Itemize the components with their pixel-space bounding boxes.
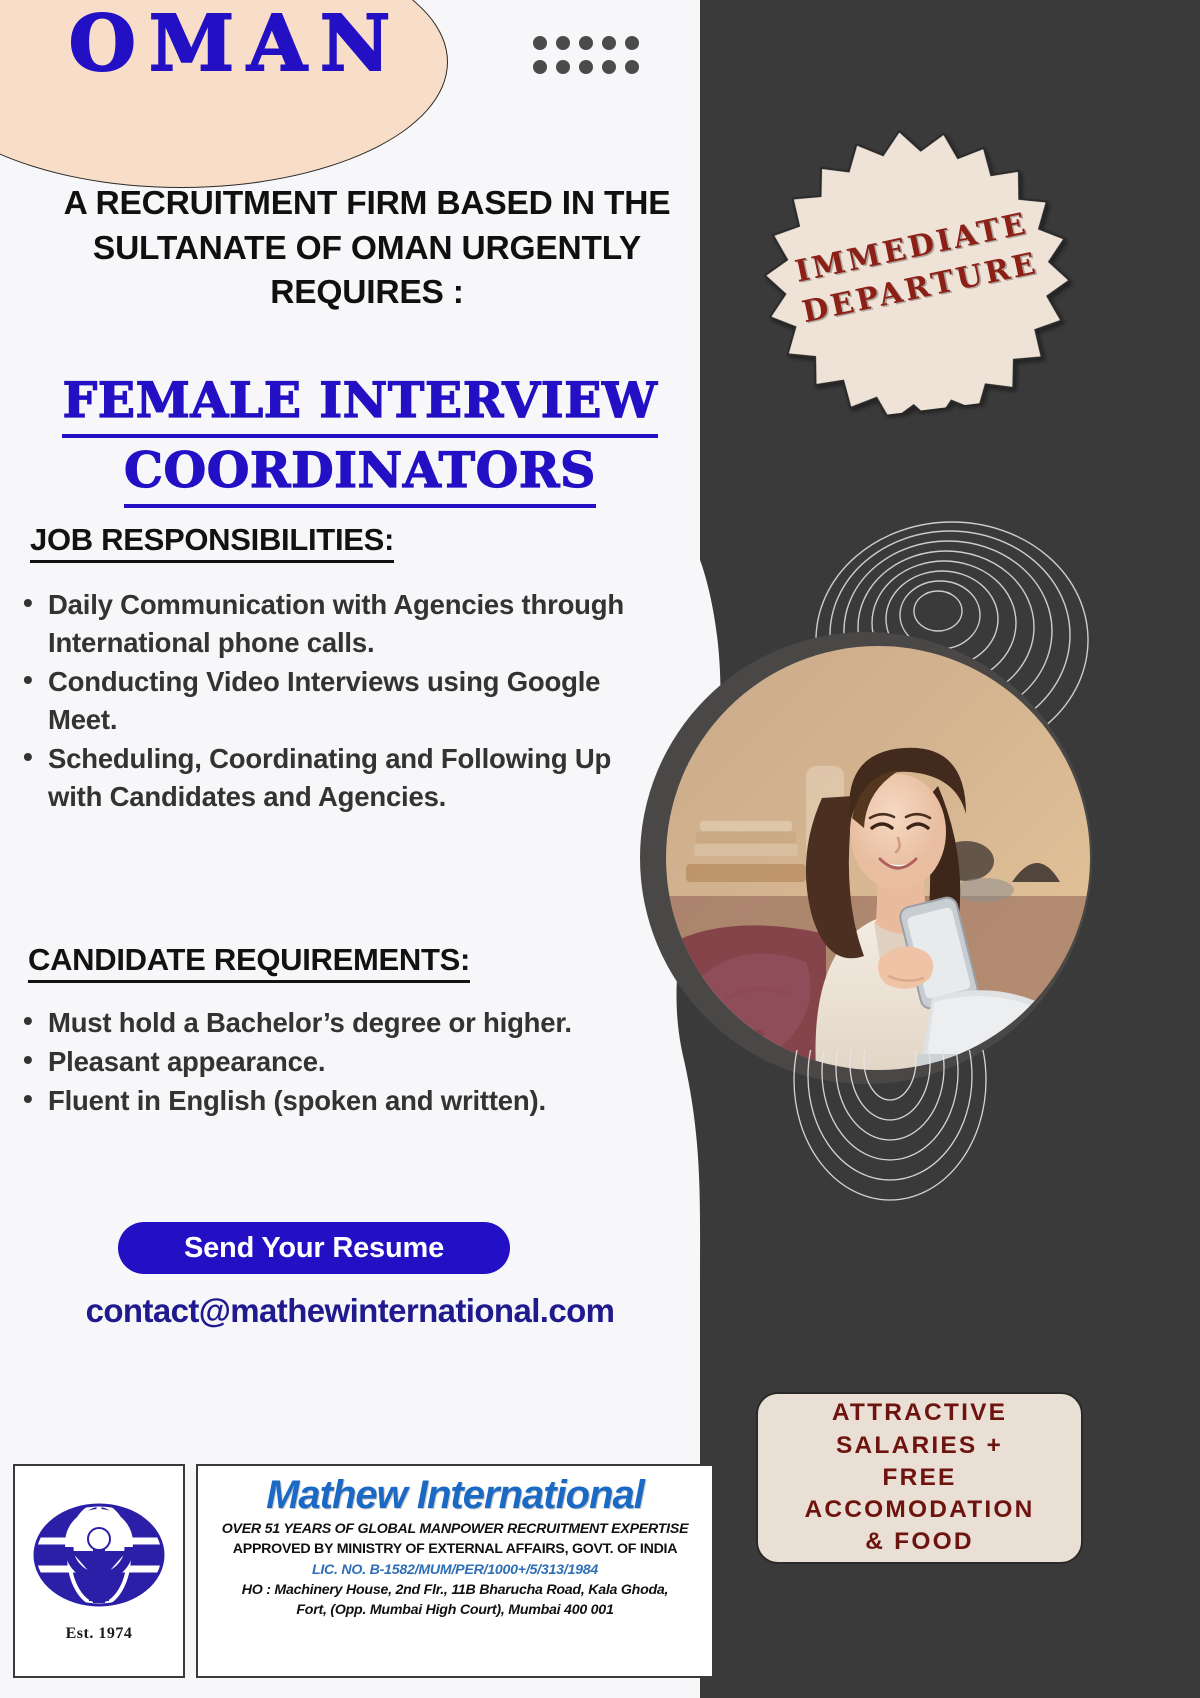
responsibilities-list: Daily Communication with Agencies throug…	[18, 586, 658, 817]
salary-line-4: ACCOMODATION	[804, 1494, 1034, 1526]
address-line-1: HO : Machinery House, 2nd Flr., 11B Bhar…	[206, 1580, 704, 1600]
job-title-line-1: FEMALE INTERVIEW	[62, 368, 657, 438]
salary-line-3: FREE	[882, 1462, 956, 1494]
country-name: OMAN	[16, 6, 456, 83]
job-title-line-2: COORDINATORS	[124, 438, 596, 508]
salary-line-1: ATTRACTIVE	[832, 1397, 1007, 1429]
photo-outer-ring	[640, 632, 1092, 1084]
address-line-2: Fort, (Opp. Mumbai High Court), Mumbai 4…	[206, 1600, 704, 1620]
company-info-box: Mathew International OVER 51 YEARS OF GL…	[196, 1464, 714, 1678]
company-tagline: OVER 51 YEARS OF GLOBAL MANPOWER RECRUIT…	[206, 1519, 704, 1539]
list-item: Daily Communication with Agencies throug…	[18, 586, 658, 662]
dot-grid-decoration	[533, 36, 648, 84]
list-item: Conducting Video Interviews using Google…	[18, 663, 658, 739]
job-title: FEMALE INTERVIEW COORDINATORS	[10, 368, 710, 508]
list-item: Fluent in English (spoken and written).	[18, 1082, 638, 1120]
requirements-list: Must hold a Bachelor’s degree or higher.…	[18, 1004, 638, 1121]
requirements-heading: CANDIDATE REQUIREMENTS:	[28, 942, 470, 983]
license-number: LIC. NO. B-1582/MUM/PER/1000+/5/313/1984	[206, 1560, 704, 1580]
page-title: A RECRUITMENT FIRM BASED IN THE SULTANAT…	[22, 182, 712, 316]
list-item: Must hold a Bachelor’s degree or higher.	[18, 1004, 638, 1042]
immediate-departure-badge: IMMEDIATE DEPARTURE	[748, 109, 1084, 428]
candidate-photo	[666, 646, 1090, 1070]
company-logo-box: Est. 1974	[13, 1464, 185, 1678]
salary-line-2: SALARIES +	[836, 1430, 1003, 1462]
established-year: Est. 1974	[66, 1625, 133, 1643]
send-resume-button[interactable]: Send Your Resume	[118, 1222, 510, 1274]
salary-line-5: & FOOD	[865, 1526, 973, 1558]
concentric-rings-decoration-bottom	[790, 1050, 990, 1210]
list-item: Scheduling, Coordinating and Following U…	[18, 740, 658, 816]
responsibilities-heading-text: JOB RESPONSIBILITIES:	[30, 522, 394, 563]
requirements-heading-text: CANDIDATE REQUIREMENTS:	[28, 942, 470, 983]
brand-name: Mathew International	[206, 1472, 704, 1519]
salary-benefits-badge: ATTRACTIVE SALARIES + FREE ACCOMODATION …	[756, 1392, 1083, 1564]
list-item: Pleasant appearance.	[18, 1043, 638, 1081]
government-approval: APPROVED BY MINISTRY OF EXTERNAL AFFAIRS…	[206, 1539, 704, 1559]
photo-illustration	[666, 646, 1090, 1070]
contact-email[interactable]: contact@mathewinternational.com	[0, 1292, 700, 1330]
globe-figure-logo	[29, 1499, 169, 1621]
responsibilities-heading: JOB RESPONSIBILITIES:	[30, 522, 394, 563]
recruitment-poster: OMAN A RECRUITMENT FIRM BASED IN THE SUL…	[0, 0, 1200, 1698]
